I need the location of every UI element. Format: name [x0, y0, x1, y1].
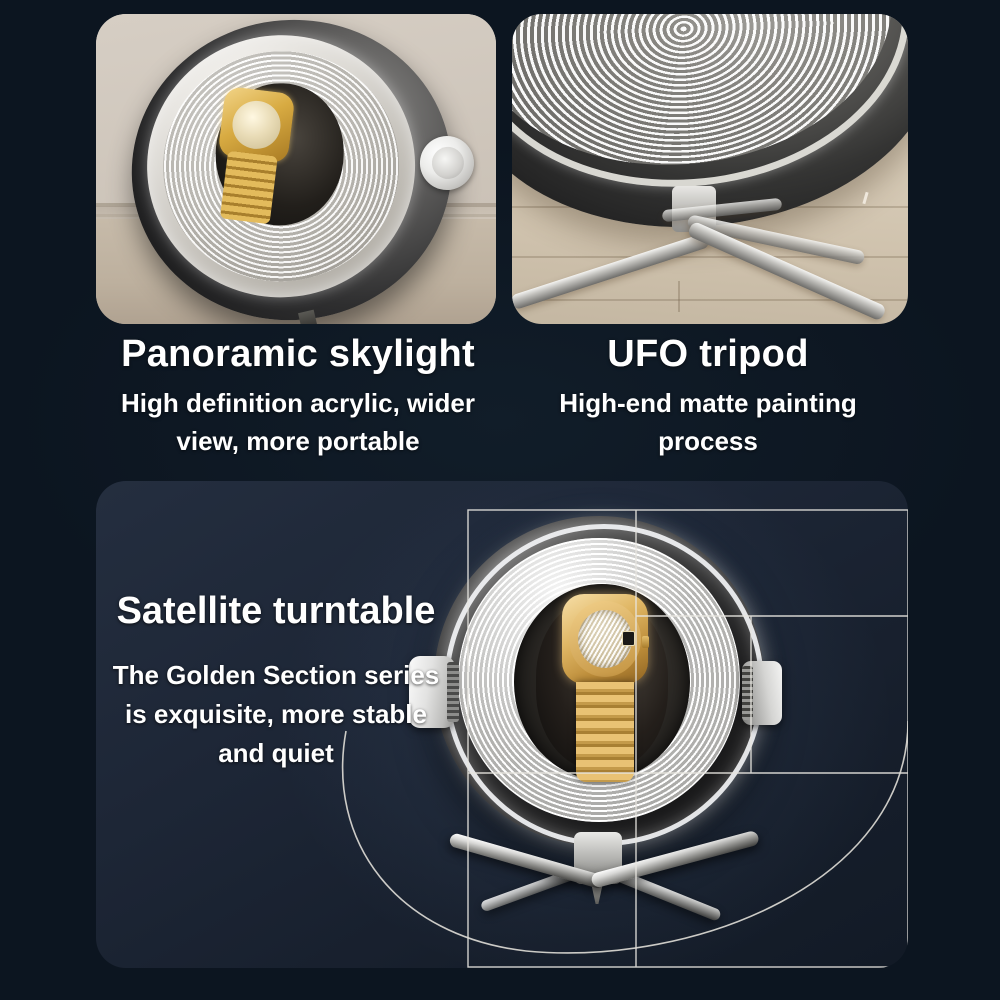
feature-subtitle-line-2: is exquisite, more stable: [96, 695, 456, 734]
feature-title: UFO tripod: [506, 332, 910, 376]
floor-plank-joint: [678, 281, 680, 312]
poster-canvas: Panoramic skylight High definition acryl…: [0, 0, 1000, 1000]
feature-title: Satellite turntable: [96, 588, 456, 634]
knob-inner-face: [430, 145, 466, 181]
watch-winder-device: [414, 506, 784, 926]
caption-satellite-turntable: Satellite turntable The Golden Section s…: [96, 588, 456, 773]
feature-subtitle-line-1: High definition acrylic, wider: [96, 384, 500, 422]
gold-watch: [210, 86, 304, 227]
feature-subtitle-line-2: view, more portable: [96, 422, 500, 460]
watch-crown: [642, 636, 649, 648]
watch-bracelet: [576, 682, 634, 782]
knob-ribbing-right: [742, 666, 753, 720]
feature-subtitle-line-3: and quiet: [96, 734, 456, 773]
watch-bracelet: [220, 151, 278, 225]
feature-subtitle-line-1: High-end matte painting process: [506, 384, 910, 460]
watch-winder-device: [115, 14, 470, 324]
feature-photo-ufo-tripod: [512, 14, 908, 324]
feature-subtitle-line-1: The Golden Section series: [96, 656, 456, 695]
rose-gold-watch: [554, 594, 650, 784]
caption-panoramic-skylight: Panoramic skylight High definition acryl…: [96, 332, 500, 460]
caption-ufo-tripod: UFO tripod High-end matte painting proce…: [506, 332, 910, 460]
feature-photo-panoramic-skylight: [96, 14, 496, 324]
feature-title: Panoramic skylight: [96, 332, 500, 376]
watch-date-window: [622, 631, 635, 646]
